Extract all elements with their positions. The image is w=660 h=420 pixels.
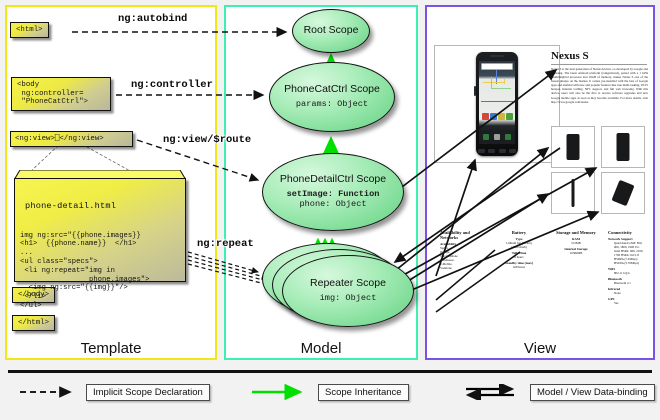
column-label-template: Template [5, 340, 217, 357]
product-title-rule [551, 64, 647, 65]
code-body-open: <body ng:controller= "PhoneCatCtrl"> [11, 77, 111, 111]
label-ng-autobind: ng:autobind [118, 13, 187, 25]
app-icon-4 [506, 113, 513, 120]
phone-search-bar [481, 63, 513, 70]
thumbnail-phone-back [617, 133, 630, 161]
scope-root: Root Scope [292, 9, 370, 53]
phone-thumbnail-3[interactable] [551, 172, 595, 214]
scope-phonedetailctrl: PhoneDetailCtrl Scope setImage: Function… [262, 153, 404, 231]
scope-phonecatctrl: PhoneCatCtrl Scope params: Object [269, 62, 395, 132]
detail-template-filename: phone-detail.html [25, 201, 181, 211]
spec-column-connectivity: Connectivity Network Support Quad-band G… [608, 230, 650, 305]
phone-earpiece-icon [490, 55, 504, 57]
scope-repeater-property: img: Object [320, 293, 377, 303]
phone-thumbnail-1[interactable] [551, 126, 595, 168]
phone-screen [479, 61, 515, 144]
code-phone-detail-template: phone-detail.html img ng:src="{{phone.im… [14, 178, 186, 282]
product-description: Nexus S is the next generation of Nexus … [551, 67, 648, 119]
dock-icon-apps [494, 134, 500, 140]
scope-phonedetailctrl-property-setimage: setImage: Function [287, 189, 380, 199]
diagram-root: Nexus S Nexus S is the next generation o… [0, 0, 660, 420]
phone-dock [479, 130, 515, 144]
code-ng-view: <ng:view>⎕</ng:view> [10, 131, 133, 147]
label-ng-controller: ng:controller [131, 79, 213, 91]
app-icon-2 [490, 113, 497, 120]
column-label-view: View [425, 340, 655, 357]
legend-label-databinding: Model / View Data-binding [530, 384, 655, 401]
label-ng-repeat: ng:repeat [197, 238, 254, 250]
phone-hardware-buttons [476, 146, 518, 155]
dock-icon-browser [505, 134, 511, 140]
spec-table: Availability and Networks Availability S… [440, 230, 650, 342]
spec-column-availability: Availability and Networks Availability S… [440, 230, 486, 270]
dashed-arrow-icon [18, 384, 80, 400]
legend-data-binding: Model / View Data-binding [462, 383, 655, 401]
thumbnail-phone-front [567, 134, 580, 160]
legend-label-implicit: Implicit Scope Declaration [86, 384, 210, 401]
column-label-model: Model [224, 340, 418, 357]
product-title: Nexus S [551, 50, 589, 62]
scope-root-label: Root Scope [304, 25, 359, 37]
map-line-yellow [483, 82, 505, 83]
green-arrow-icon [250, 384, 312, 400]
scope-phonecatctrl-label: PhoneCatCtrl Scope [284, 84, 380, 96]
dock-icon-phone [483, 134, 489, 140]
spec-column-storage: Storage and Memory RAM 512MB Internal St… [550, 230, 602, 255]
detail-template-code: img ng:src="{{phone.images}} <h1> {{phon… [20, 232, 181, 320]
legend-scope-inheritance: Scope Inheritance [250, 383, 409, 401]
legend-label-inheritance: Scope Inheritance [318, 384, 409, 401]
spec-column-battery: Battery Type Lithium Ion (Li-Ion) (1500 … [493, 230, 545, 269]
phone-thumbnail-2[interactable] [601, 126, 645, 168]
double-arrow-icon [462, 384, 524, 400]
thumbnail-phone-angle [611, 180, 634, 206]
scope-repeater-1: Repeater Scope img: Object [282, 255, 414, 327]
map-line-yellow-2 [504, 79, 505, 84]
map-line-green [491, 88, 511, 89]
scope-phonecatctrl-property: params: Object [296, 99, 368, 109]
app-icon-1 [482, 113, 489, 120]
scope-phonedetailctrl-label: PhoneDetailCtrl Scope [280, 174, 386, 186]
phone-device-image [476, 52, 518, 156]
map-line-green-2 [491, 77, 492, 89]
app-icon-3 [498, 113, 505, 120]
phone-side-button-icon [474, 86, 476, 96]
legend-divider [8, 370, 652, 373]
label-ng-view-route: ng:view/$route [163, 134, 251, 146]
scope-phonedetailctrl-property-phone: phone: Object [299, 199, 366, 209]
thumbnail-phone-side [572, 179, 575, 207]
phone-thumbnail-4[interactable] [601, 172, 645, 214]
legend-implicit-scope-declaration: Implicit Scope Declaration [18, 383, 210, 401]
code-html-open: <html> [10, 22, 49, 38]
map-line-red [481, 101, 513, 102]
scope-repeater-label: Repeater Scope [310, 278, 386, 290]
